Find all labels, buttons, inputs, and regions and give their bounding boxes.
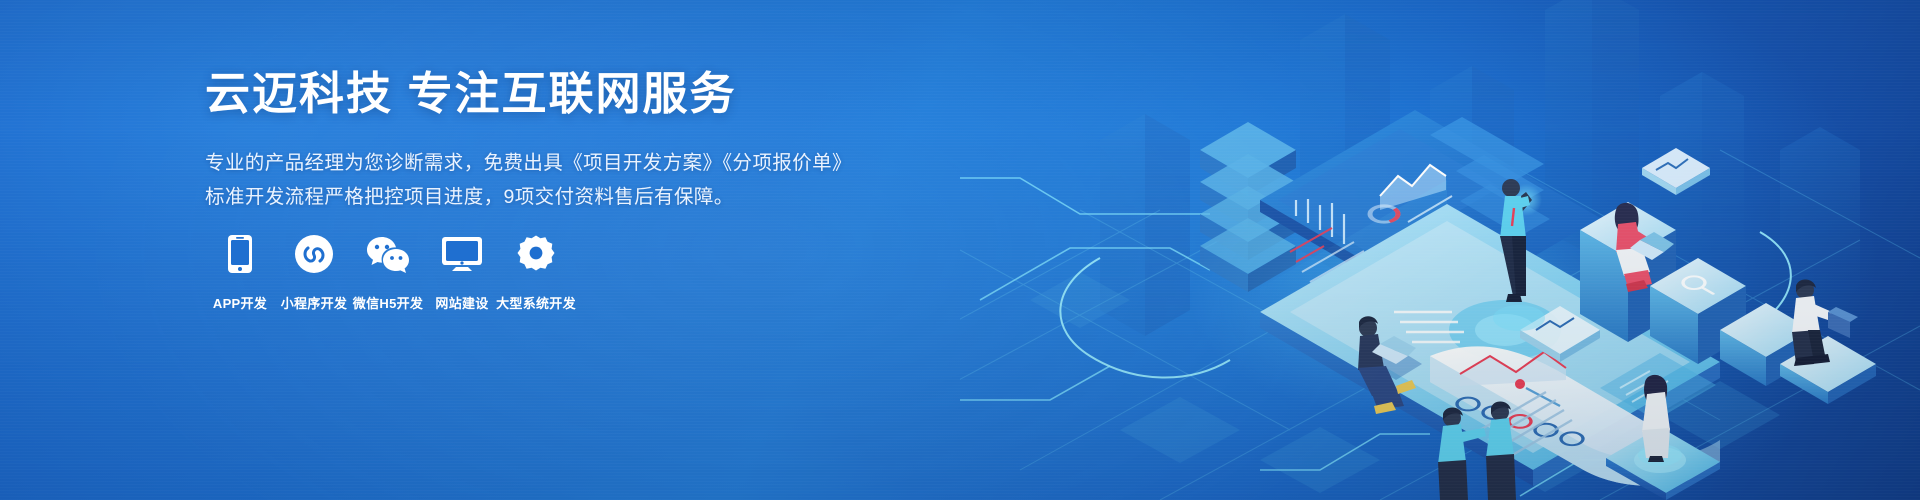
subtitle-line-2: 标准开发流程严格把控项目进度，9项交付资料售后有保障。 [205, 180, 925, 214]
gear-icon [516, 232, 556, 276]
service-list: APP开发 小程序开发 微信 [203, 232, 573, 312]
monitor-icon [441, 232, 483, 276]
service-label-miniprogram: 小程序开发 [281, 293, 348, 312]
service-item-app[interactable]: APP开发 [203, 232, 277, 312]
wechat-icon [366, 232, 410, 276]
service-label-website: 网站建设 [435, 293, 488, 312]
service-label-system: 大型系统开发 [496, 293, 576, 312]
promo-banner: 云迈科技 专注互联网服务 专业的产品经理为您诊断需求，免费出具《项目开发方案》《… [0, 0, 1920, 500]
mobile-phone-icon [227, 232, 253, 276]
banner-copy: 云迈科技 专注互联网服务 专业的产品经理为您诊断需求，免费出具《项目开发方案》《… [205, 68, 925, 214]
service-item-website[interactable]: 网站建设 [425, 232, 499, 312]
service-item-wechat[interactable]: 微信H5开发 [351, 232, 425, 312]
subtitle-line-1: 专业的产品经理为您诊断需求，免费出具《项目开发方案》《分项报价单》 [205, 146, 925, 180]
service-item-miniprogram[interactable]: 小程序开发 [277, 232, 351, 312]
service-item-system[interactable]: 大型系统开发 [499, 232, 573, 312]
service-label-wechat: 微信H5开发 [353, 293, 423, 312]
mini-program-icon [294, 232, 334, 276]
page-title: 云迈科技 专注互联网服务 [205, 68, 925, 120]
isometric-illustration [960, 0, 1920, 500]
service-label-app: APP开发 [213, 293, 267, 312]
